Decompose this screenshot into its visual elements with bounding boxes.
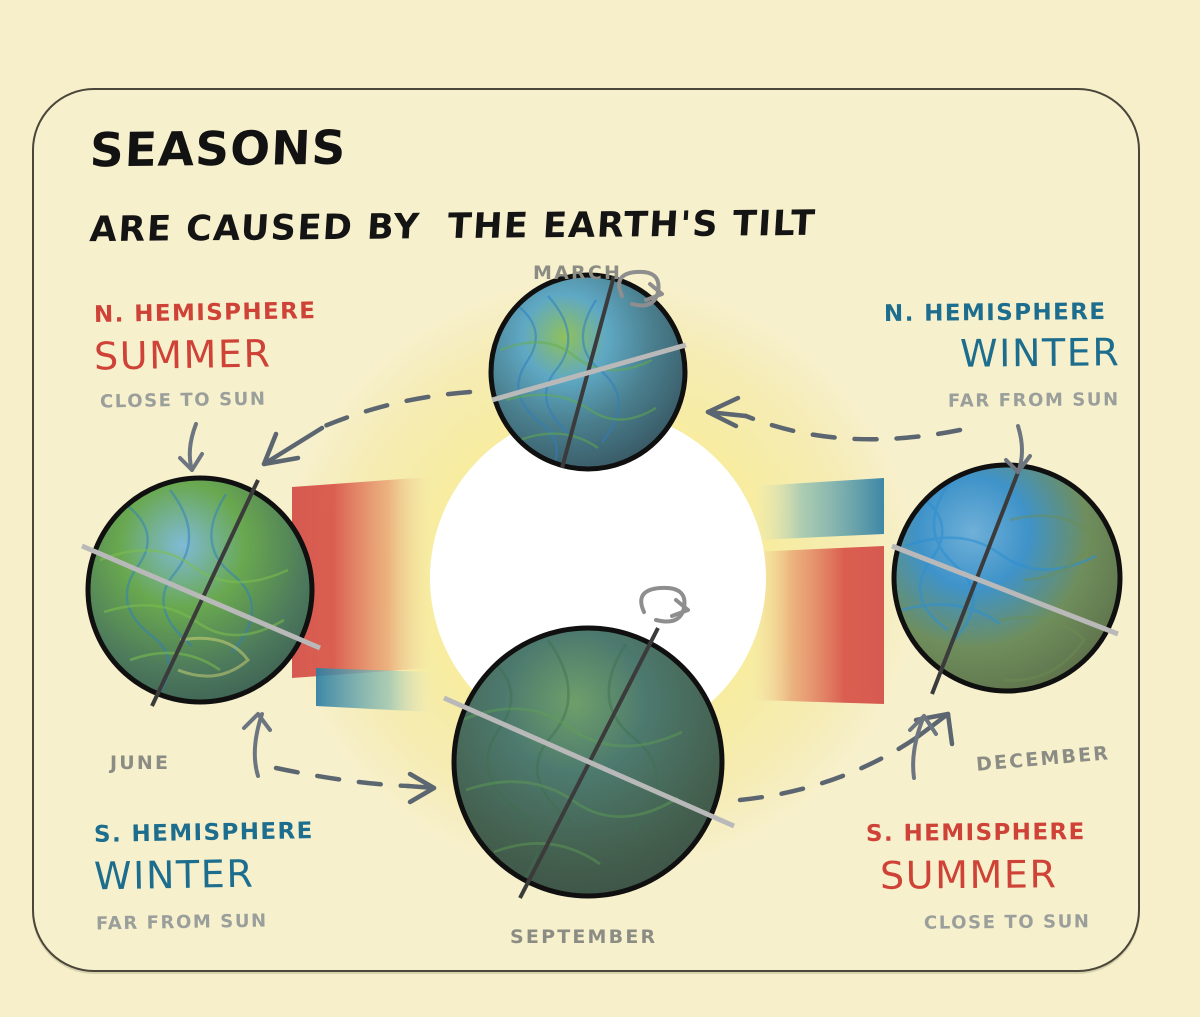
n-winter-note: FAR FROM SUN [948,391,1120,410]
month-label-december: DECEMBER [975,744,1110,775]
n-summer-hemisphere: N. HEMISPHERE [94,300,317,327]
s-winter-hemisphere: S. HEMISPHERE [94,820,314,847]
infographic-canvas: SEASONS ARE CAUSED BY THE EARTH'S TILT N… [0,0,1200,1017]
n-summer-season: SUMMER [94,334,272,375]
month-label-september: SEPTEMBER [510,928,657,947]
s-winter-note: FAR FROM SUN [96,913,268,934]
month-label-march: MARCH [533,264,622,283]
s-winter-season: WINTER [94,855,255,896]
s-summer-hemisphere: S. HEMISPHERE [866,821,1086,846]
s-summer-note: CLOSE TO SUN [924,913,1091,932]
n-summer-note: CLOSE TO SUN [100,391,267,412]
month-label-june: JUNE [110,754,170,773]
text-layer: SEASONS ARE CAUSED BY THE EARTH'S TILT N… [0,0,1200,1017]
page-subtitle: ARE CAUSED BY THE EARTH'S TILT [89,207,817,248]
n-winter-hemisphere: N. HEMISPHERE [884,301,1107,326]
s-summer-season: SUMMER [880,855,1058,895]
n-winter-season: WINTER [960,333,1121,372]
page-title: SEASONS [89,125,347,175]
